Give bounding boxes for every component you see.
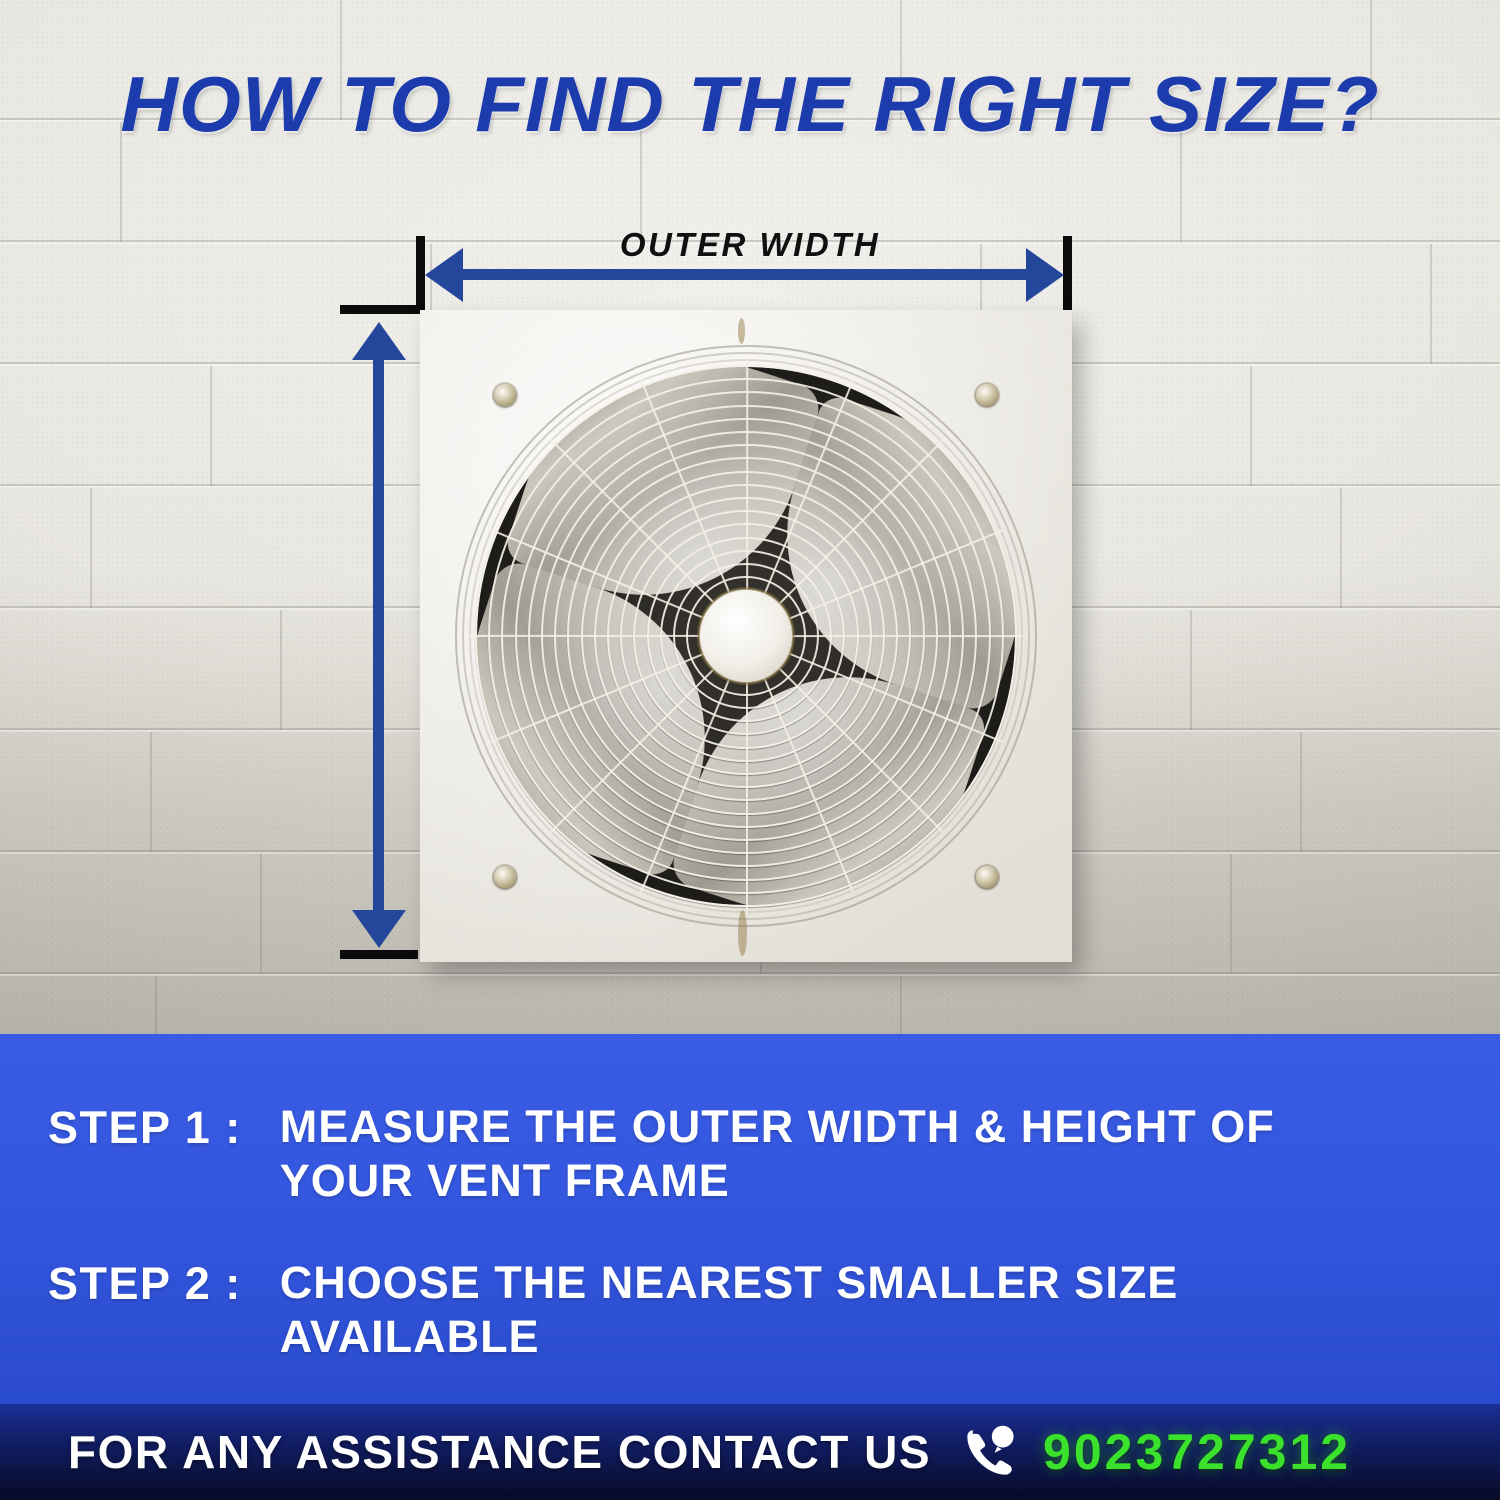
contact-phone-number: 9023727312 — [1043, 1423, 1351, 1481]
contact-footer: FOR ANY ASSISTANCE CONTACT US 9023727312 — [0, 1404, 1500, 1500]
fan-hub — [700, 590, 792, 682]
exhaust-fan — [455, 345, 1037, 927]
height-arrowhead-down — [352, 910, 406, 948]
step-2-key: STEP 2 : — [48, 1256, 242, 1311]
contact-label: FOR ANY ASSISTANCE CONTACT US — [68, 1425, 931, 1479]
phone-icon — [961, 1423, 1019, 1481]
width-arrow-shaft — [460, 269, 1030, 280]
mounting-screw — [976, 866, 998, 888]
vent-frame-panel — [420, 310, 1072, 962]
height-arrow-shaft — [373, 355, 384, 913]
mounting-screw — [976, 384, 998, 406]
steps-section: STEP 1 : MEASURE THE OUTER WIDTH & HEIGH… — [0, 1038, 1500, 1404]
height-tick-bottom — [340, 950, 418, 959]
step-1-key: STEP 1 : — [48, 1100, 242, 1155]
step-row: STEP 1 : MEASURE THE OUTER WIDTH & HEIGH… — [48, 1100, 1440, 1208]
step-2-text: CHOOSE THE NEAREST SMALLER SIZE AVAILABL… — [280, 1256, 1360, 1364]
mounting-screw — [494, 384, 516, 406]
step-row: STEP 2 : CHOOSE THE NEAREST SMALLER SIZE… — [48, 1256, 1440, 1364]
outer-width-label: OUTER WIDTH — [0, 226, 1500, 264]
step-1-text: MEASURE THE OUTER WIDTH & HEIGHT OF YOUR… — [280, 1100, 1360, 1208]
height-tick-top — [340, 305, 418, 314]
page-title: HOW TO FIND THE RIGHT SIZE? — [0, 62, 1500, 146]
rust-stain — [738, 910, 747, 956]
rust-stain — [738, 318, 745, 344]
mounting-screw — [494, 866, 516, 888]
